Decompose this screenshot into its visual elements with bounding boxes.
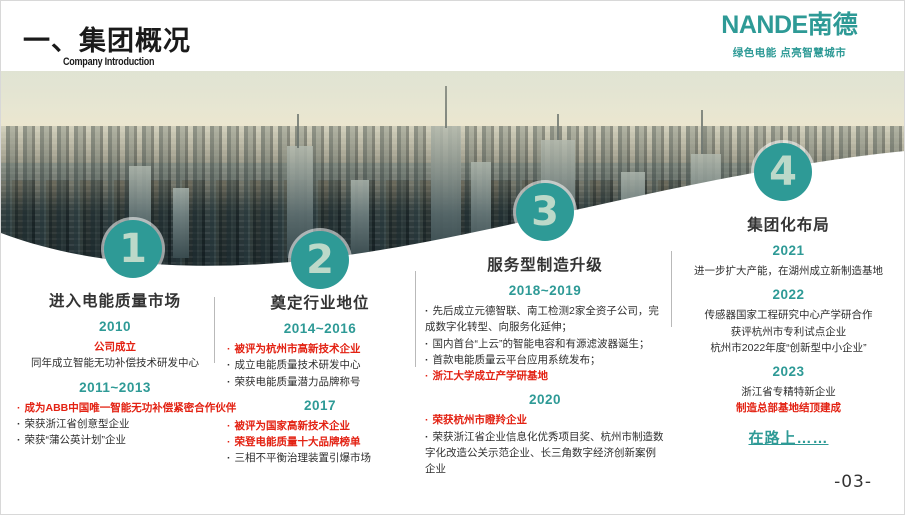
timeline-item: 荣获杭州市瞪羚企业 (425, 412, 665, 428)
timeline-item: 同年成立智能无功补偿技术研发中心 (17, 355, 213, 371)
column-heading: 服务型制造升级 (425, 253, 665, 275)
timeline-item: 被评为杭州市高新技术企业 (227, 341, 413, 357)
timeline-item: 获评杭州市专利试点企业 (681, 324, 896, 340)
timeline-item: 三相不平衡治理装置引爆市场 (227, 450, 413, 466)
brand-logo: NANDE南德 绿色电能 点亮智慧城市 (697, 13, 882, 60)
year-label: 2022 (681, 287, 896, 302)
column-divider (415, 271, 416, 367)
page-title: 一、集团概况 (23, 19, 191, 58)
timeline-item: 浙江省专精特新企业 (681, 384, 896, 400)
column-heading: 奠定行业地位 (227, 291, 413, 313)
timeline-item: 杭州市2022年度“创新型中小企业” (681, 340, 896, 356)
year-label: 2011~2013 (17, 380, 213, 395)
timeline-item: 荣获浙江省创意型企业 (17, 416, 213, 432)
timeline-item: 公司成立 (17, 339, 213, 355)
column-divider (214, 297, 215, 363)
timeline-item: 成立电能质量技术研发中心 (227, 357, 413, 373)
timeline-column-4: 集团化布局2021进一步扩大产能，在湖州成立新制造基地2022传感器国家工程研究… (681, 213, 896, 448)
column-footer: 在路上…… (681, 427, 896, 448)
column-heading: 进入电能质量市场 (17, 289, 213, 311)
timeline-item: 制造总部基地结顶建成 (681, 400, 896, 416)
timeline-marker-1: 1 (104, 220, 162, 278)
page-number: -03- (834, 472, 872, 492)
timeline-item: 浙江大学成立产学研基地 (425, 368, 665, 384)
timeline-item: 被评为国家高新技术企业 (227, 418, 413, 434)
year-label: 2021 (681, 243, 896, 258)
timeline-item: 荣获电能质量潜力品牌称号 (227, 374, 413, 390)
timeline-item: 传感器国家工程研究中心产学研合作 (681, 307, 896, 323)
year-label: 2014~2016 (227, 321, 413, 336)
timeline-column-1: 进入电能质量市场2010公司成立同年成立智能无功补偿技术研发中心2011~201… (17, 289, 213, 448)
column-divider (671, 251, 672, 327)
timeline-item: 国内首台“上云”的智能电容和有源滤波器诞生； (425, 336, 665, 352)
column-heading: 集团化布局 (681, 213, 896, 235)
year-label: 2017 (227, 398, 413, 413)
timeline-marker-4: 4 (754, 143, 812, 201)
timeline-column-2: 奠定行业地位2014~2016被评为杭州市高新技术企业成立电能质量技术研发中心荣… (227, 291, 413, 467)
timeline-item: 首款电能质量云平台应用系统发布； (425, 352, 665, 368)
logo-chinese: 南德 (808, 11, 858, 39)
timeline-item: 先后成立元德智联、南工检测2家全资子公司，完成数字化转型、向服务化延伸； (425, 303, 665, 336)
timeline-item: 荣获“蒲公英计划”企业 (17, 432, 213, 448)
timeline-item: 成为ABB中国唯一智能无功补偿紧密合作伙伴 (17, 400, 213, 416)
slide-canvas: 一、集团概况 Company Introduction 3、发展历程 NANDE… (0, 0, 905, 515)
timeline-item: 荣登电能质量十大品牌榜单 (227, 434, 413, 450)
logo-wordmark: NANDE南德 (697, 13, 882, 38)
logo-latin: NANDE (721, 11, 807, 39)
timeline-marker-3: 3 (516, 183, 574, 241)
timeline-item: 荣获浙江省企业信息化优秀项目奖、杭州市制造数字化改造公关示范企业、长三角数字经济… (425, 429, 665, 478)
logo-tagline: 绿色电能 点亮智慧城市 (697, 45, 882, 60)
year-label: 2023 (681, 364, 896, 379)
timeline-item: 进一步扩大产能，在湖州成立新制造基地 (681, 263, 896, 279)
year-label: 2010 (17, 319, 213, 334)
year-label: 2020 (425, 392, 665, 407)
timeline-marker-2: 2 (291, 231, 349, 289)
page-subtitle: Company Introduction (63, 56, 154, 68)
timeline-column-3: 服务型制造升级2018~2019先后成立元德智联、南工检测2家全资子公司，完成数… (425, 253, 665, 477)
year-label: 2018~2019 (425, 283, 665, 298)
